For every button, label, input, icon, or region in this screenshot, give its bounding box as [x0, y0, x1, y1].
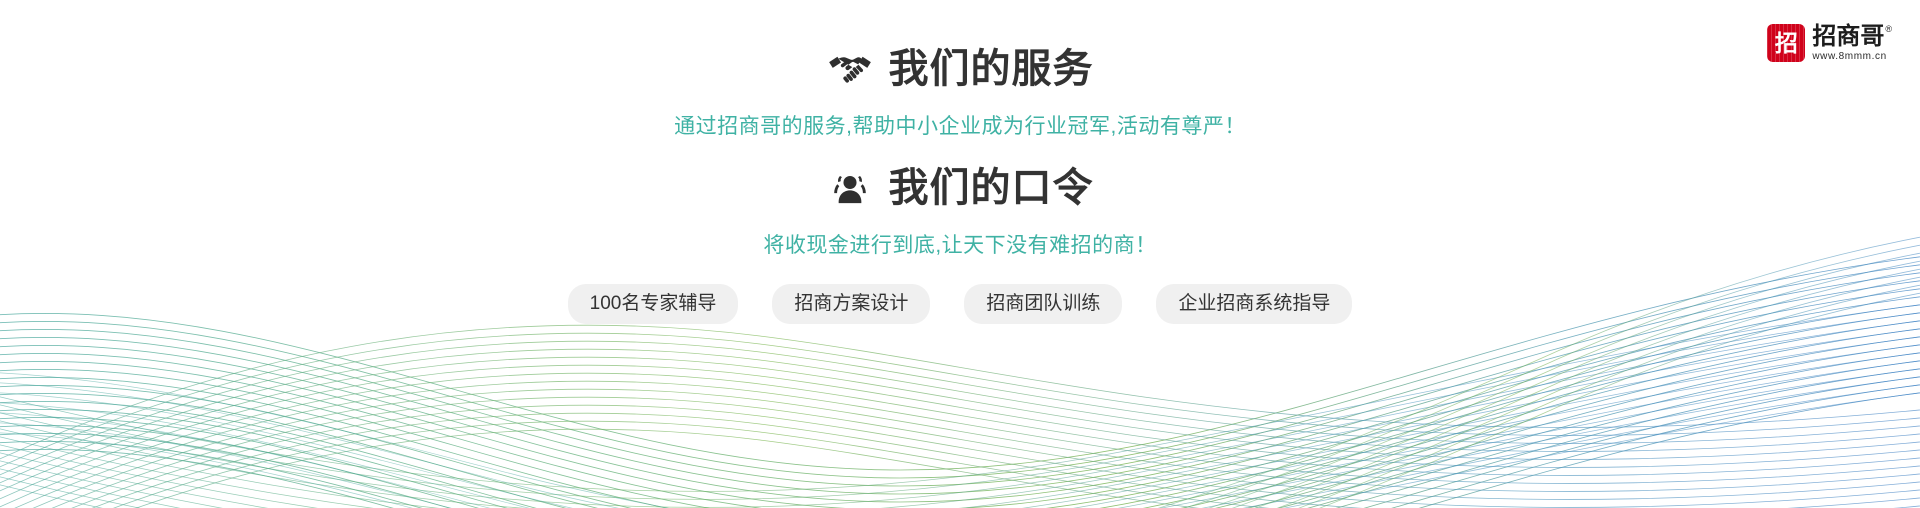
section-subtitle-slogan: 将收现金进行到底,让天下没有难招的商！ — [763, 233, 1156, 258]
section-heading-slogan: 我们的口令 — [827, 165, 1094, 211]
service-tag-system-guidance[interactable]: 企业招商系统指导 — [1156, 284, 1352, 324]
banner-content: 我们的服务 通过招商哥的服务,帮助中小企业成为行业冠军,活动有尊严！ 我们的口令 — [0, 0, 1920, 324]
service-tag-team-training[interactable]: 招商团队训练 — [964, 284, 1122, 324]
section-heading-services: 我们的服务 — [827, 46, 1094, 92]
registered-trademark-icon: ® — [1885, 25, 1892, 34]
promo-banner: 招 招商哥 ® www.8mmm.cn — [0, 0, 1920, 508]
logo-wordmark-row: 招商哥 ® — [1812, 24, 1892, 49]
logo-wordmark: 招商哥 — [1812, 24, 1884, 49]
section-heading-text: 我们的口令 — [889, 166, 1094, 210]
brand-logo[interactable]: 招 招商哥 ® www.8mmm.cn — [1767, 24, 1892, 62]
users-group-icon — [827, 165, 873, 211]
section-subtitle-services: 通过招商哥的服务,帮助中小企业成为行业冠军,活动有尊严！ — [674, 114, 1246, 139]
service-tag-list: 100名专家辅导 招商方案设计 招商团队训练 企业招商系统指导 — [568, 284, 1353, 324]
handshake-icon — [827, 46, 873, 92]
logo-text: 招商哥 ® www.8mmm.cn — [1812, 24, 1892, 61]
service-tag-expert-coaching[interactable]: 100名专家辅导 — [568, 284, 739, 324]
logo-mark: 招 — [1767, 24, 1805, 62]
service-tag-plan-design[interactable]: 招商方案设计 — [772, 284, 930, 324]
logo-website-url: www.8mmm.cn — [1812, 51, 1892, 62]
logo-mark-char: 招 — [1775, 32, 1798, 55]
section-heading-text: 我们的服务 — [889, 47, 1094, 91]
